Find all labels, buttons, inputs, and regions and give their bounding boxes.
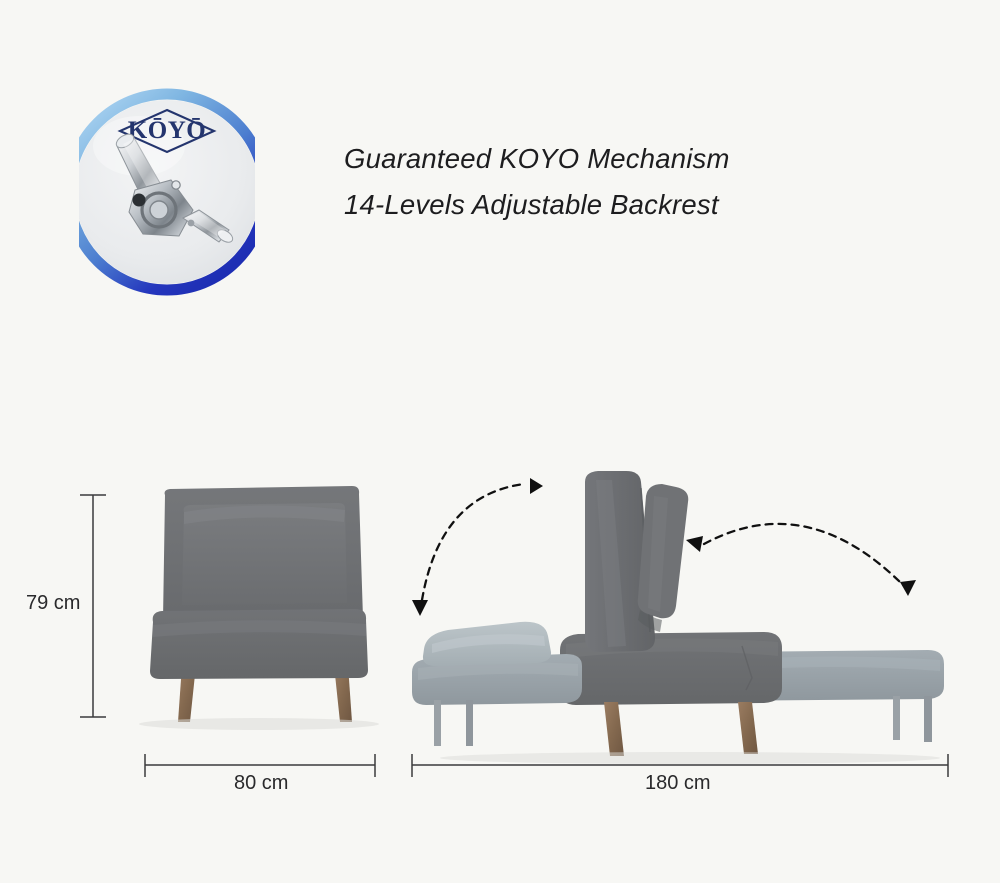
infographic-canvas: KŌYŌ Guaranteed <box>0 0 1000 883</box>
bed-leg-wood-left <box>604 702 624 756</box>
bed-leg-grey-far-left <box>434 700 441 746</box>
koyo-logo-text: KŌYŌ <box>128 117 206 144</box>
backrest-fold-arrow-right <box>686 524 916 596</box>
headline-line-2: 14-Levels Adjustable Backrest <box>344 182 864 228</box>
headline-line-1: Guaranteed KOYO Mechanism <box>344 136 864 182</box>
product-illustration <box>0 440 1000 780</box>
armchair-front-view <box>139 486 379 730</box>
backrest-fold-arrow-left <box>412 478 543 616</box>
dimension-height-label: 79 cm <box>26 592 80 615</box>
dimension-length-label: 180 cm <box>645 772 711 795</box>
dimension-height <box>80 495 106 717</box>
bed-leg-wood-right <box>738 702 758 754</box>
dimension-width-label: 80 cm <box>234 772 288 795</box>
bed-leg-grey-right <box>924 696 932 742</box>
bed-leg-grey-left <box>893 696 900 740</box>
sofa-bed-side-view <box>412 471 944 764</box>
chair-seat <box>150 609 368 679</box>
koyo-mechanism-badge: KŌYŌ <box>79 84 255 308</box>
headline-block: Guaranteed KOYO Mechanism 14-Levels Adju… <box>344 136 864 228</box>
bed-leg-grey-mid <box>466 700 473 746</box>
